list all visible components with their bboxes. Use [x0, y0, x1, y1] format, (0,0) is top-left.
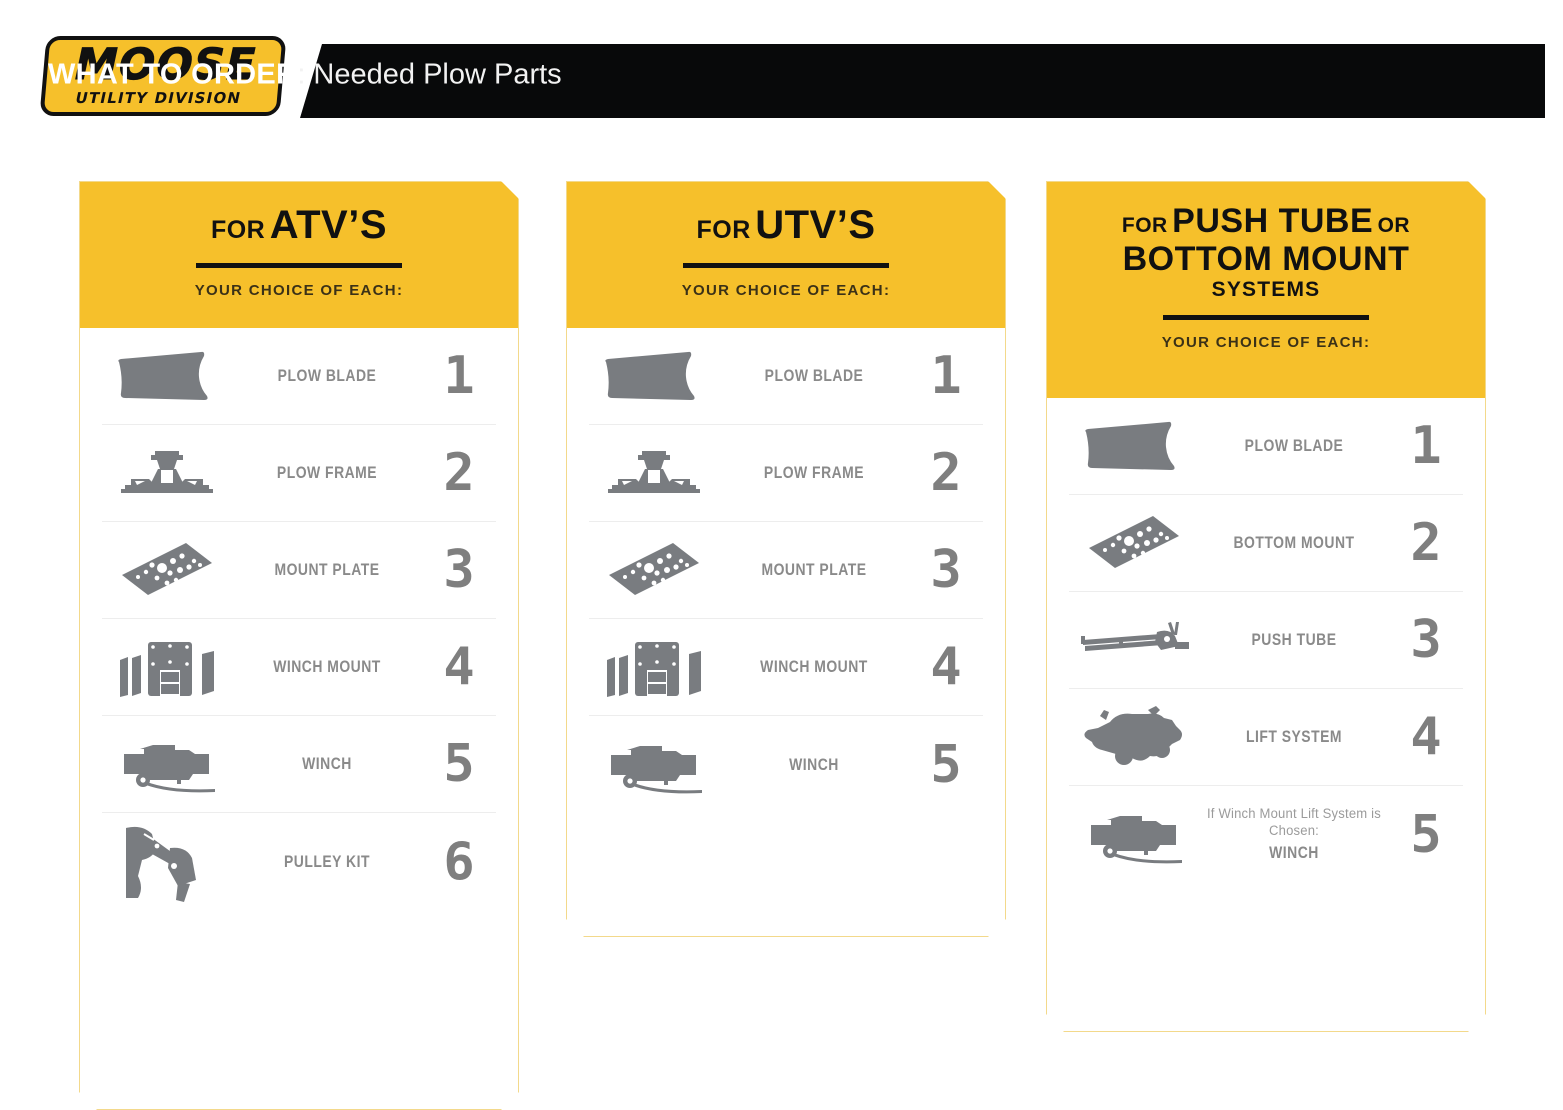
- card-push-tube: FOR PUSH TUBE OR BOTTOM MOUNT SYSTEMS YO…: [1046, 181, 1486, 1032]
- list-item[interactable]: WINCH MOUNT 4: [102, 619, 496, 716]
- card-atv-header: FOR ATV’S YOUR CHOICE OF EACH:: [80, 182, 518, 328]
- list-item-note: If Winch Mount Lift System is Chosen:: [1202, 806, 1386, 840]
- list-item-label: WINCH: [249, 754, 405, 774]
- header-title-bold: WHAT TO ORDER: [48, 59, 297, 91]
- list-item-label: WINCH MOUNT: [736, 657, 892, 677]
- bottom-mount-icon: [1069, 510, 1199, 576]
- list-item[interactable]: MOUNT PLATE 3: [589, 522, 983, 619]
- list-item-number: 4: [909, 641, 983, 693]
- list-item-number: 2: [1389, 517, 1463, 569]
- list-item-label: PUSH TUBE: [1216, 630, 1372, 650]
- logo-tagline: UTILITY DIVISION: [74, 89, 243, 107]
- list-item[interactable]: LIFT SYSTEM 4: [1069, 689, 1463, 786]
- card-utv-subtitle: YOUR CHOICE OF EACH:: [585, 282, 987, 299]
- card-push-tube-divider: [1163, 315, 1369, 320]
- card-utv: FOR UTV’S YOUR CHOICE OF EACH: PLOW BLAD…: [566, 181, 1006, 937]
- card-push-tube-title-main: PUSH TUBE: [1172, 202, 1373, 240]
- list-item[interactable]: MOUNT PLATE 3: [102, 522, 496, 619]
- list-item-label: PLOW BLADE: [249, 366, 405, 386]
- plow-blade-icon: [102, 348, 232, 404]
- list-item-number: 2: [422, 447, 496, 499]
- plow-frame-icon: [102, 445, 232, 501]
- list-item[interactable]: WINCH 5: [102, 716, 496, 813]
- list-item-label: PULLEY KIT: [249, 852, 405, 872]
- list-item-number: 4: [1389, 711, 1463, 763]
- card-utv-title-prefix: FOR: [696, 216, 750, 244]
- list-item-label: WINCH: [736, 755, 892, 775]
- card-push-tube-title-line1: FOR PUSH TUBE OR: [1065, 204, 1467, 240]
- plow-blade-icon: [589, 348, 719, 404]
- list-item[interactable]: PLOW FRAME 2: [102, 425, 496, 522]
- winch-icon: [589, 736, 719, 794]
- list-item-number: 5: [909, 739, 983, 791]
- plow-blade-icon: [1069, 418, 1199, 474]
- list-item[interactable]: PUSH TUBE 3: [1069, 592, 1463, 689]
- list-item-number: 6: [422, 836, 496, 888]
- card-utv-title-main: UTV’S: [755, 203, 875, 247]
- list-item[interactable]: WINCH MOUNT 4: [589, 619, 983, 716]
- card-push-tube-title-line2: BOTTOM MOUNT: [1065, 242, 1467, 278]
- card-push-tube-title-line3: SYSTEMS: [1065, 279, 1467, 301]
- card-utv-title: FOR UTV’S: [585, 204, 987, 246]
- cards-container: FOR ATV’S YOUR CHOICE OF EACH: PLOW BLAD…: [0, 150, 1563, 1000]
- list-item-label: If Winch Mount Lift System is Chosen: WI…: [1216, 806, 1372, 864]
- list-item-number: 4: [422, 641, 496, 693]
- plow-frame-icon: [589, 445, 719, 501]
- card-push-tube-title-prefix: FOR: [1122, 214, 1168, 237]
- list-item-label: WINCH MOUNT: [249, 657, 405, 677]
- list-item[interactable]: PLOW BLADE 1: [102, 328, 496, 425]
- card-utv-divider: [683, 263, 889, 268]
- list-item-number: 1: [1389, 420, 1463, 472]
- list-item-label: PLOW FRAME: [249, 463, 405, 483]
- card-atv-title-prefix: FOR: [211, 216, 265, 244]
- card-atv-title-main: ATV’S: [270, 203, 387, 247]
- list-item-number: 3: [909, 544, 983, 596]
- list-item-number: 5: [422, 738, 496, 790]
- winch-icon: [1069, 806, 1199, 864]
- list-item[interactable]: If Winch Mount Lift System is Chosen: WI…: [1069, 786, 1463, 883]
- card-push-tube-title-main2: BOTTOM MOUNT: [1123, 240, 1410, 278]
- winch-icon: [102, 735, 232, 793]
- list-item-label: PLOW FRAME: [736, 463, 892, 483]
- card-push-tube-header: FOR PUSH TUBE OR BOTTOM MOUNT SYSTEMS YO…: [1047, 182, 1485, 398]
- list-item-number: 1: [422, 350, 496, 402]
- card-utv-header: FOR UTV’S YOUR CHOICE OF EACH:: [567, 182, 1005, 328]
- winch-mount-icon: [102, 634, 232, 700]
- card-atv-title: FOR ATV’S: [98, 204, 500, 246]
- list-item-number: 3: [1389, 614, 1463, 666]
- card-atv-rows: PLOW BLADE 1 PLOW FRAME 2 MOUNT PLATE 3: [80, 328, 518, 910]
- list-item[interactable]: BOTTOM MOUNT 2: [1069, 495, 1463, 592]
- card-push-tube-title-suffix: OR: [1378, 214, 1411, 237]
- list-item[interactable]: PLOW BLADE 1: [1069, 398, 1463, 495]
- card-push-tube-title-systems: SYSTEMS: [1212, 278, 1321, 301]
- winch-mount-icon: [589, 634, 719, 700]
- list-item-label: LIFT SYSTEM: [1216, 727, 1372, 747]
- list-item-label: MOUNT PLATE: [249, 560, 405, 580]
- list-item-number: 5: [1389, 809, 1463, 861]
- mount-plate-icon: [589, 537, 719, 603]
- list-item-label: BOTTOM MOUNT: [1216, 533, 1372, 553]
- page-header: MOOSE UTILITY DIVISION WHAT TO ORDER: Ne…: [0, 0, 1563, 150]
- list-item-label: PLOW BLADE: [1216, 436, 1372, 456]
- list-item-number: 2: [909, 447, 983, 499]
- card-push-tube-rows: PLOW BLADE 1 BOTTOM MOUNT 2 PUSH TUBE 3: [1047, 398, 1485, 883]
- list-item-label: PLOW BLADE: [736, 366, 892, 386]
- card-atv-divider: [196, 263, 402, 268]
- card-atv: FOR ATV’S YOUR CHOICE OF EACH: PLOW BLAD…: [79, 181, 519, 1110]
- list-item-number: 1: [909, 350, 983, 402]
- card-atv-subtitle: YOUR CHOICE OF EACH:: [98, 282, 500, 299]
- card-push-tube-subtitle: YOUR CHOICE OF EACH:: [1065, 334, 1467, 351]
- list-item[interactable]: PLOW FRAME 2: [589, 425, 983, 522]
- lift-system-icon: [1069, 704, 1199, 770]
- list-item[interactable]: WINCH 5: [589, 716, 983, 813]
- list-item-number: 3: [422, 544, 496, 596]
- push-tube-icon: [1069, 612, 1199, 668]
- header-title-rest: : Needed Plow Parts: [297, 59, 561, 91]
- pulley-kit-icon: [102, 820, 232, 904]
- list-item[interactable]: PLOW BLADE 1: [589, 328, 983, 425]
- list-item-label: MOUNT PLATE: [736, 560, 892, 580]
- card-utv-rows: PLOW BLADE 1 PLOW FRAME 2 MOUNT PLATE 3: [567, 328, 1005, 813]
- header-title: WHAT TO ORDER: Needed Plow Parts: [48, 59, 562, 92]
- list-item[interactable]: PULLEY KIT 6: [102, 813, 496, 910]
- mount-plate-icon: [102, 537, 232, 603]
- list-item-label-text: WINCH: [1269, 843, 1319, 862]
